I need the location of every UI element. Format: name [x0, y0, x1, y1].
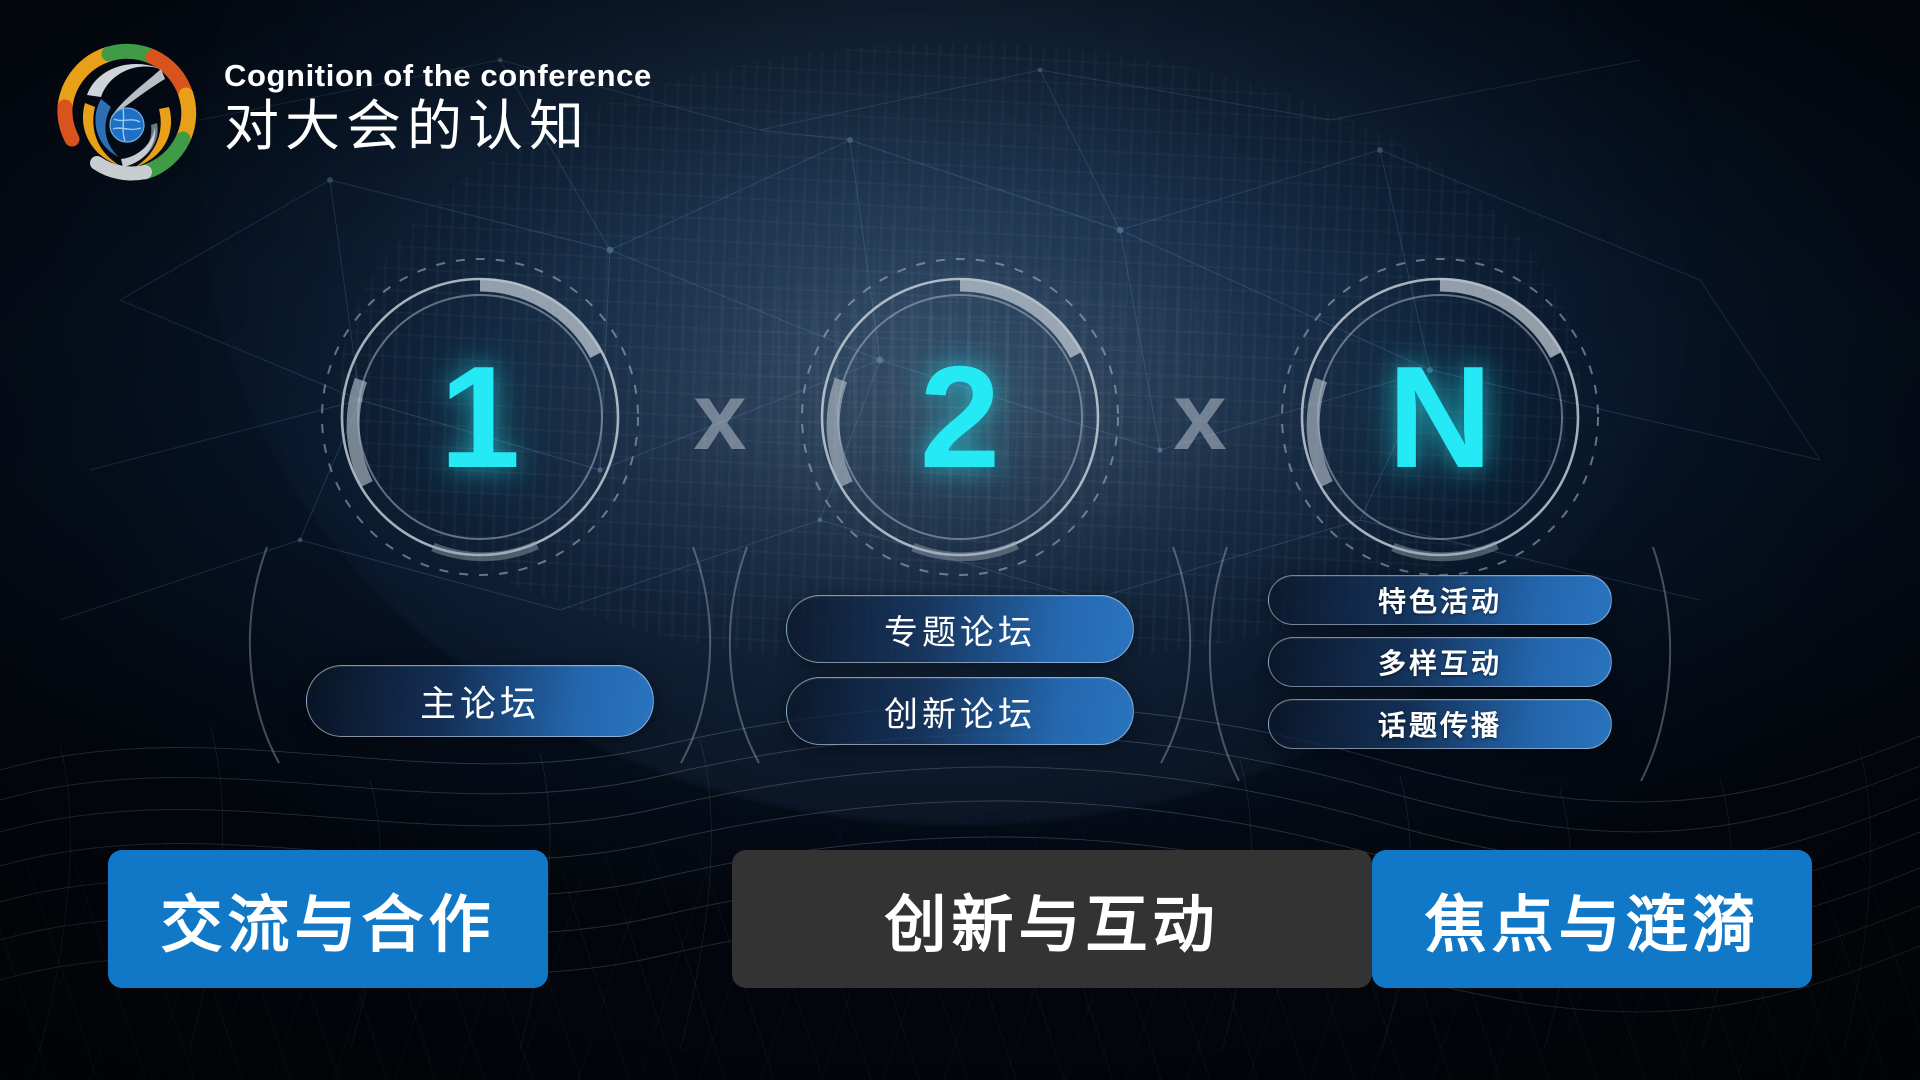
hud-circle-2: 2	[795, 252, 1125, 582]
formula-separator-1: x	[645, 369, 795, 465]
hud-circle-3: N	[1275, 252, 1605, 582]
slide-header: Cognition of the conference 对大会的认知	[52, 38, 652, 188]
hud-number-1: 1	[315, 252, 645, 582]
banner-innovation-interaction[interactable]: 创新与互动	[732, 850, 1372, 988]
banner-focus-ripple[interactable]: 焦点与涟漪	[1372, 850, 1812, 988]
pill-thematic-forum[interactable]: 专题论坛	[786, 595, 1134, 663]
pill-innovation-forum[interactable]: 创新论坛	[786, 677, 1134, 745]
hud-number-3: N	[1275, 252, 1605, 582]
column-two: 专题论坛 创新论坛	[720, 575, 1200, 825]
conference-swirl-globe-logo	[52, 38, 202, 188]
column-three: 特色活动 多样互动 话题传播	[1200, 575, 1680, 825]
column-one: 主论坛	[240, 575, 720, 825]
pill-diverse-interaction[interactable]: 多样互动	[1268, 637, 1612, 687]
banner-exchange-cooperation[interactable]: 交流与合作	[108, 850, 548, 988]
page-title-english: Cognition of the conference	[224, 60, 652, 93]
page-title-chinese: 对大会的认知	[224, 93, 652, 160]
formula-separator-2: x	[1125, 369, 1275, 465]
pill-main-forum[interactable]: 主论坛	[306, 665, 654, 737]
hud-circle-1: 1	[315, 252, 645, 582]
pill-topic-spread[interactable]: 话题传播	[1268, 699, 1612, 749]
bottom-banners: 交流与合作 创新与互动 焦点与涟漪	[0, 850, 1920, 988]
pill-featured-activities[interactable]: 特色活动	[1268, 575, 1612, 625]
formula-row: 1 x 2 x N	[0, 252, 1920, 582]
slide-canvas: Cognition of the conference 对大会的认知 1 x	[0, 0, 1920, 1080]
hud-number-2: 2	[795, 252, 1125, 582]
pill-columns: 主论坛 专题论坛 创新论坛 特色活动 多样互动 话题传播	[0, 575, 1920, 825]
